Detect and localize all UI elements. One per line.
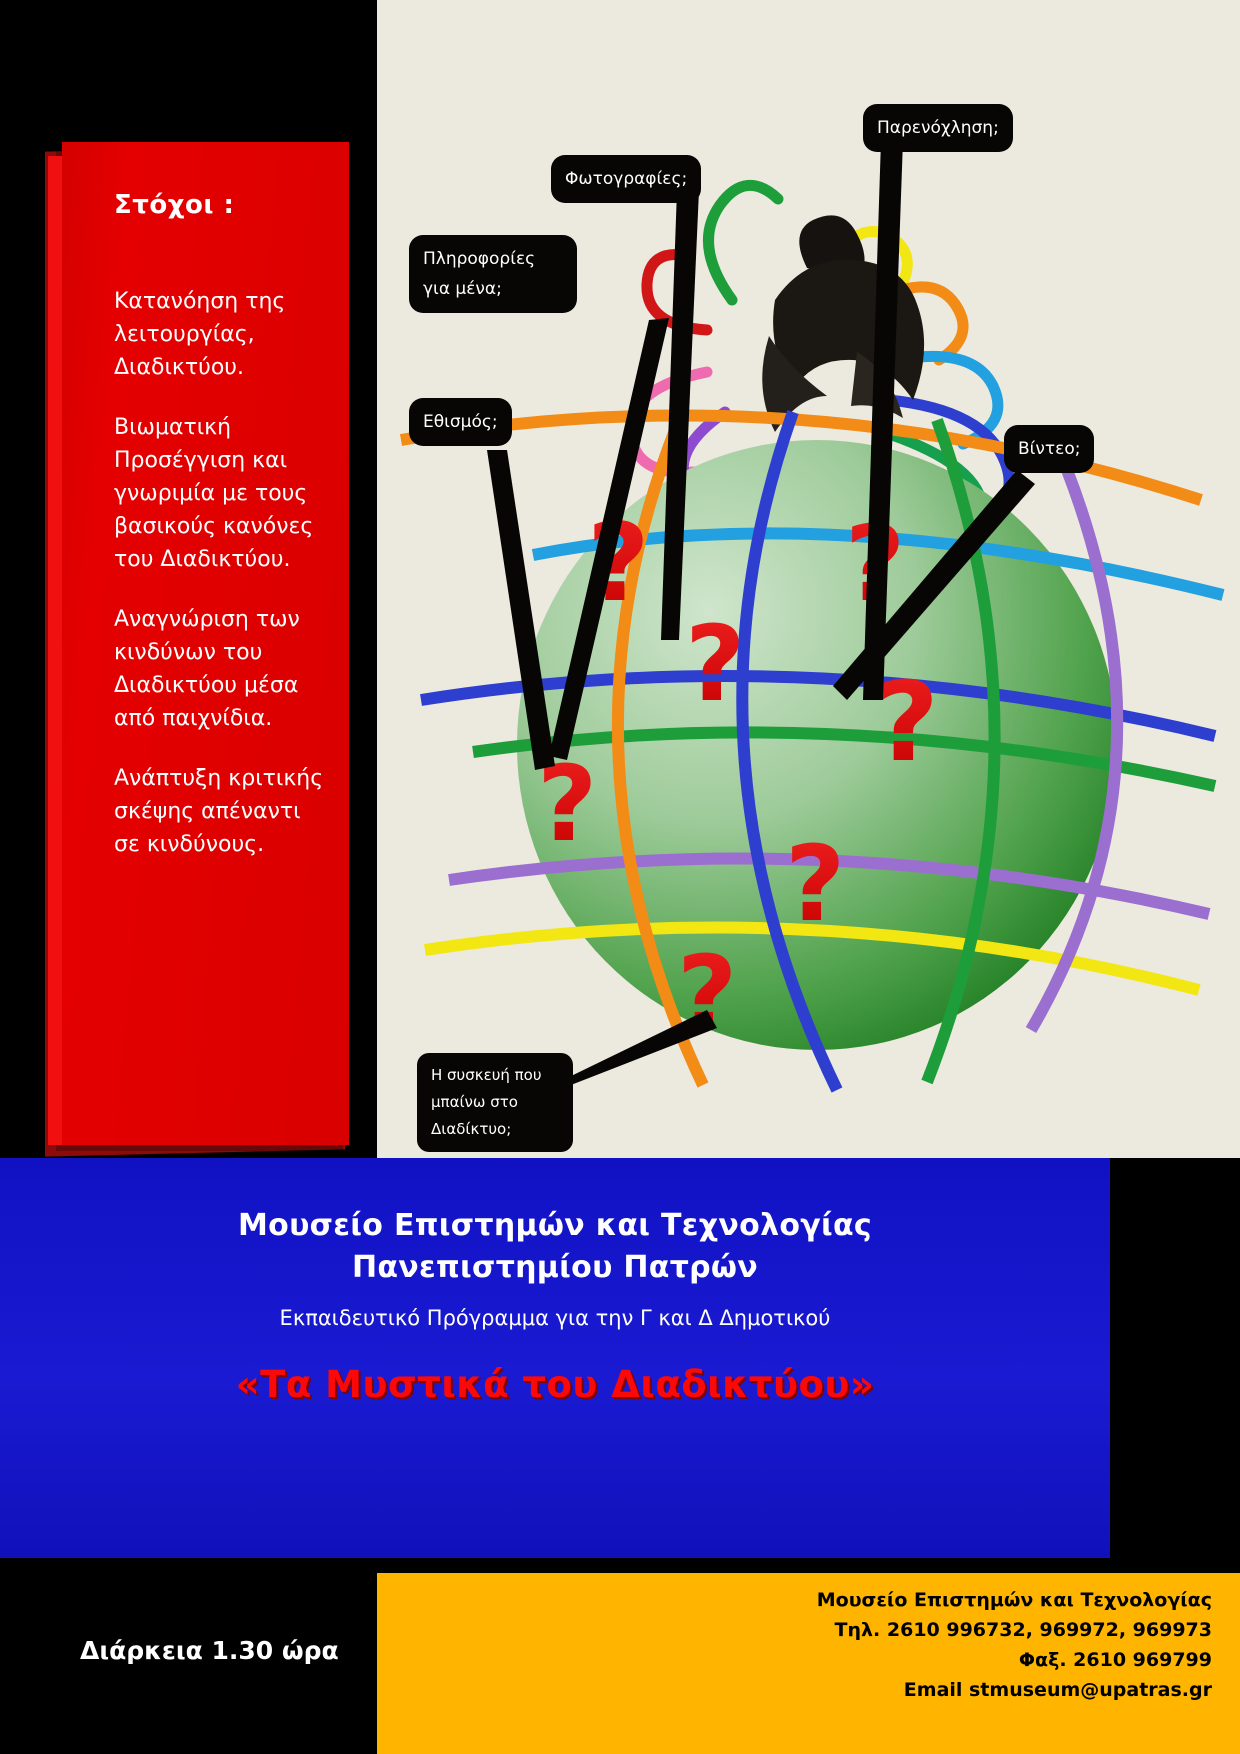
objectives-list: Κατανόηση της λειτουργίας, Διαδικτύου. Β… bbox=[114, 285, 324, 888]
callout-addiction: Εθισμός; bbox=[409, 398, 512, 446]
callout-info-about-me: Πληροφορίες για μένα; bbox=[409, 235, 577, 313]
svg-text:?: ? bbox=[685, 603, 745, 725]
contact-email: Email stmuseum@upatras.gr bbox=[817, 1675, 1212, 1705]
objective-item: Βιωματική Προσέγγιση και γνωριμία με του… bbox=[114, 411, 324, 576]
callout-harassment: Παρενόχληση; bbox=[863, 104, 1013, 152]
callout-video: Βίντεο; bbox=[1004, 425, 1094, 473]
poster-root: ? ? ? ? ? ? ? Παρενόχληση; Φωτογραφίες; … bbox=[0, 0, 1240, 1754]
contact-details: Μουσείο Επιστημών και Τεχνολογίας Τηλ. 2… bbox=[817, 1585, 1212, 1705]
program-subtitle: Εκπαιδευτικό Πρόγραμμα για την Γ και Δ Δ… bbox=[0, 1306, 1110, 1330]
contact-name: Μουσείο Επιστημών και Τεχνολογίας bbox=[817, 1585, 1212, 1615]
objective-item: Αναγνώριση των κινδύνων του Διαδικτύου μ… bbox=[114, 603, 324, 735]
objective-item: Ανάπτυξη κριτικής σκέψης απέναντι σε κιν… bbox=[114, 762, 324, 861]
contact-phone: Τηλ. 2610 996732, 969972, 969973 bbox=[817, 1615, 1212, 1645]
illustration-panel: ? ? ? ? ? ? ? Παρενόχληση; Φωτογραφίες; … bbox=[377, 0, 1240, 1158]
contact-box: Μουσείο Επιστημών και Τεχνολογίας Τηλ. 2… bbox=[377, 1573, 1240, 1754]
organization-name-line2: Πανεπιστημίου Πατρών bbox=[0, 1250, 1110, 1285]
organization-band: Μουσείο Επιστημών και Τεχνολογίας Πανεπι… bbox=[0, 1158, 1110, 1558]
program-title: «Τα Μυστικά του Διαδικτύου» bbox=[0, 1363, 1110, 1406]
objectives-card: Στόχοι : Κατανόηση της λειτουργίας, Διαδ… bbox=[62, 142, 349, 1145]
objective-item: Κατανόηση της λειτουργίας, Διαδικτύου. bbox=[114, 285, 324, 384]
callout-device: Η συσκευή που μπαίνω στο Διαδίκτυο; bbox=[417, 1053, 573, 1152]
globe-illustration: ? ? ? ? ? ? ? bbox=[377, 0, 1240, 1158]
svg-text:?: ? bbox=[875, 658, 939, 786]
organization-name-line1: Μουσείο Επιστημών και Τεχνολογίας bbox=[0, 1208, 1110, 1243]
callout-photos: Φωτογραφίες; bbox=[551, 155, 701, 203]
contact-fax: Φαξ. 2610 969799 bbox=[817, 1645, 1212, 1675]
svg-text:?: ? bbox=[785, 823, 845, 945]
objectives-title: Στόχοι : bbox=[114, 190, 234, 220]
duration-label: Διάρκεια 1.30 ώρα bbox=[80, 1636, 339, 1665]
